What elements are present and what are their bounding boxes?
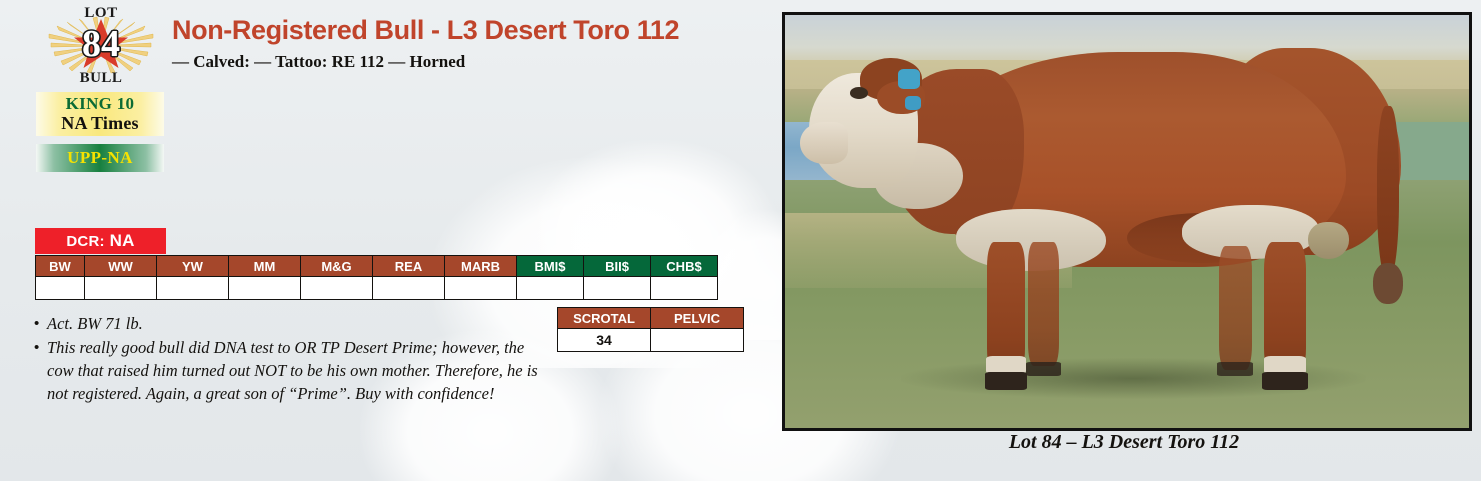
epd-header-mm: MM <box>229 256 301 277</box>
lot-sex-label: BULL <box>38 71 164 86</box>
upp-label: UPP-NA <box>36 144 164 172</box>
measurement-header-scrotal: SCROTAL <box>558 308 651 329</box>
bull-tail-switch <box>1373 263 1403 304</box>
note-text: Act. BW 71 lb. <box>47 312 554 335</box>
king-times-label: NA Times <box>36 113 164 134</box>
measurement-value-scrotal: 34 <box>558 329 651 352</box>
note-item: •Act. BW 71 lb. <box>34 312 554 335</box>
note-text: This really good bull did DNA test to OR… <box>47 336 554 405</box>
epd-header-m-g: M&G <box>301 256 373 277</box>
epd-value-m-g <box>301 277 373 300</box>
epd-header-rea: REA <box>373 256 445 277</box>
dcr-text: DCR: NA <box>66 231 134 251</box>
dcr-value: NA <box>110 231 135 250</box>
bull-hoof <box>985 372 1027 389</box>
animal-photo <box>785 15 1469 428</box>
dcr-banner: DCR: NA <box>35 228 166 254</box>
bull-muzzle <box>800 122 848 163</box>
epd-value-ww <box>85 277 157 300</box>
ear-tag-icon <box>905 96 921 110</box>
bullet-icon: • <box>34 336 47 359</box>
dcr-label: DCR: <box>66 233 104 250</box>
bullet-icon: • <box>34 312 47 335</box>
bull-hoof <box>1026 362 1060 376</box>
epd-value-bii <box>584 277 651 300</box>
king-ranking-badge: KING 10 NA Times <box>36 92 164 136</box>
bull-hoof <box>1217 362 1253 376</box>
animal-header: Non-Registered Bull - L3 Desert Toro 112… <box>172 14 752 74</box>
bull-tail <box>1377 106 1399 279</box>
bull-leg <box>1219 246 1252 370</box>
bull-eye <box>850 87 868 99</box>
epd-value-yw <box>157 277 229 300</box>
catalog-page: LOT <box>0 0 1481 481</box>
measurements-header-row: SCROTALPELVIC <box>558 308 744 329</box>
epd-value-mm <box>229 277 301 300</box>
animal-title: Non-Registered Bull - L3 Desert Toro 112 <box>172 14 752 46</box>
epd-header-row: BWWWYWMMM&GREAMARBBMI$BII$CHB$ <box>36 256 718 277</box>
bull-scrotum <box>1308 222 1349 259</box>
epd-value-bw <box>36 277 85 300</box>
note-item: •This really good bull did DNA test to O… <box>34 336 554 405</box>
measurement-header-pelvic: PELVIC <box>651 308 744 329</box>
measurement-value-pelvic <box>651 329 744 352</box>
epd-value-row <box>36 277 718 300</box>
lot-number: 84 <box>38 20 164 68</box>
bull-hoof <box>1262 372 1307 389</box>
epd-value-bmi <box>517 277 584 300</box>
epd-value-marb <box>445 277 517 300</box>
epd-header-yw: YW <box>157 256 229 277</box>
lot-badge: LOT <box>38 4 164 86</box>
epd-header-chb: CHB$ <box>651 256 718 277</box>
lot-info-column: LOT <box>0 0 770 481</box>
animal-subtitle: — Calved: — Tattoo: RE 112 — Horned <box>172 50 752 74</box>
epd-header-bmi: BMI$ <box>517 256 584 277</box>
ear-tag-icon <box>898 69 920 90</box>
bull-leg <box>1028 242 1059 366</box>
photo-caption: Lot 84 – L3 Desert Toro 112 <box>782 428 1466 456</box>
notes-list: •Act. BW 71 lb.•This really good bull di… <box>34 312 554 406</box>
epd-header-marb: MARB <box>445 256 517 277</box>
animal-photo-frame <box>782 12 1472 431</box>
epd-value-chb <box>651 277 718 300</box>
epd-header-ww: WW <box>85 256 157 277</box>
epd-table: BWWWYWMMM&GREAMARBBMI$BII$CHB$ <box>35 255 718 300</box>
measurements-value-row: 34 <box>558 329 744 352</box>
epd-value-rea <box>373 277 445 300</box>
upp-badge: UPP-NA <box>36 144 164 172</box>
measurements-table: SCROTALPELVIC 34 <box>557 307 744 352</box>
epd-header-bii: BII$ <box>584 256 651 277</box>
king-rank-label: KING 10 <box>36 92 164 113</box>
epd-header-bw: BW <box>36 256 85 277</box>
